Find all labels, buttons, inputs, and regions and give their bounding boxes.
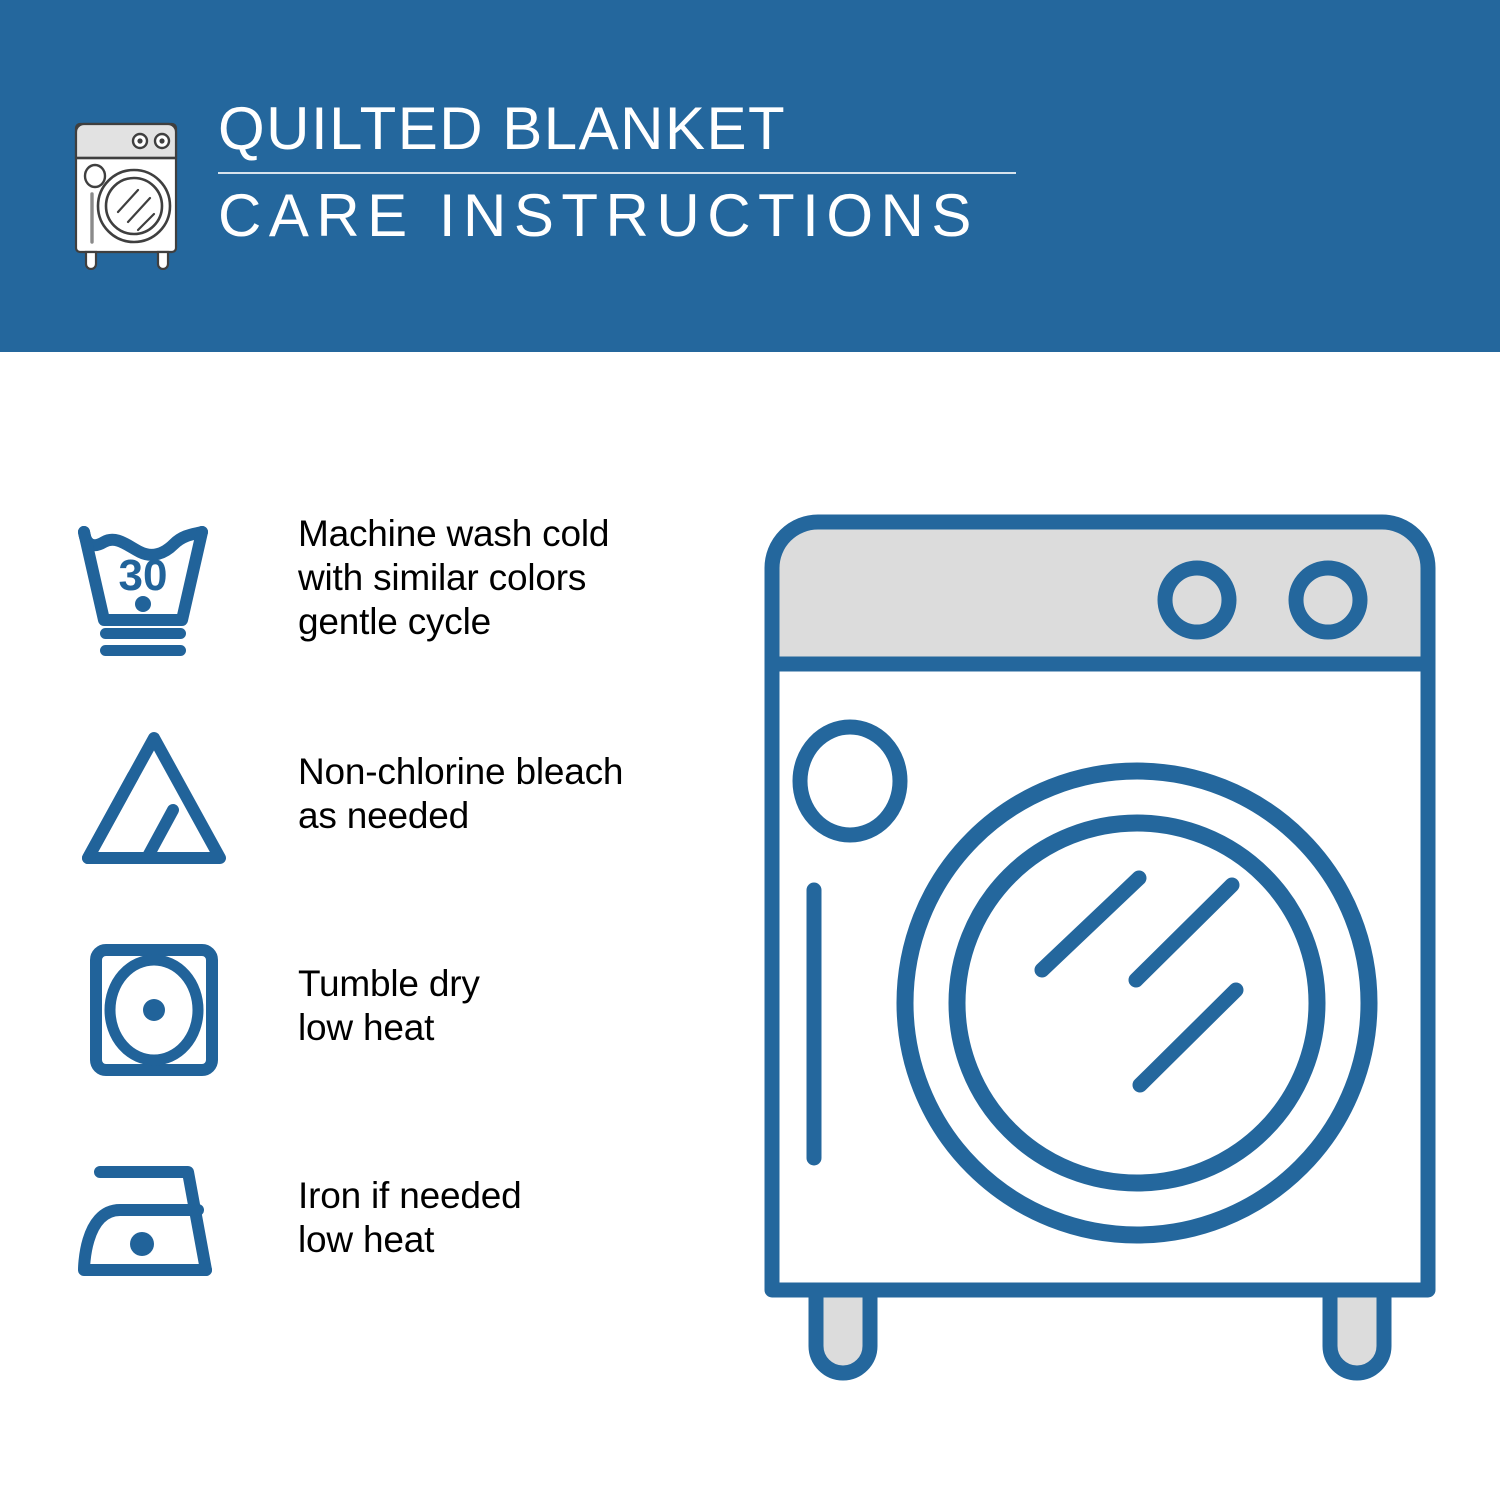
care-row-machine-wash: 30 Machine wash cold with similar colors… bbox=[70, 512, 710, 662]
care-text-line: Tumble dry bbox=[298, 962, 710, 1006]
control-panel bbox=[772, 522, 1428, 664]
care-row-text: Iron if needed low heat bbox=[298, 1148, 710, 1262]
care-text-line: low heat bbox=[298, 1006, 710, 1050]
front-load-washing-machine-illustration bbox=[750, 500, 1450, 1410]
care-instruction-list: 30 Machine wash cold with similar colors… bbox=[70, 512, 710, 1298]
machine-body bbox=[772, 664, 1428, 1290]
care-text-line: gentle cycle bbox=[298, 600, 710, 644]
leg-right bbox=[1330, 1290, 1384, 1373]
care-row-bleach: Non-chlorine bleach as needed bbox=[70, 724, 710, 874]
leg-left bbox=[816, 1290, 870, 1373]
care-row-text: Machine wash cold with similar colors ge… bbox=[298, 512, 710, 644]
care-text-line: with similar colors bbox=[298, 556, 710, 600]
washing-machine-icon bbox=[62, 102, 190, 270]
care-text-line: low heat bbox=[298, 1218, 710, 1262]
care-text-line: Iron if needed bbox=[298, 1174, 710, 1218]
care-text-line: Non-chlorine bleach bbox=[298, 750, 710, 794]
care-row-text: Tumble dry low heat bbox=[298, 936, 710, 1050]
care-row-text: Non-chlorine bleach as needed bbox=[298, 724, 710, 838]
page-title: QUILTED BLANKET bbox=[218, 98, 1062, 160]
svg-text:30: 30 bbox=[119, 551, 168, 600]
header-title-block: QUILTED BLANKET CARE INSTRUCTIONS bbox=[218, 96, 1062, 248]
care-row-iron: Iron if needed low heat bbox=[70, 1148, 710, 1298]
main-content: 30 Machine wash cold with similar colors… bbox=[0, 352, 1500, 1500]
title-divider bbox=[218, 172, 1016, 174]
care-text-line: as needed bbox=[298, 794, 710, 838]
tumble-dry-low-heat-icon bbox=[70, 936, 238, 1084]
non-chlorine-bleach-triangle-icon bbox=[70, 724, 238, 872]
page-subtitle: CARE INSTRUCTIONS bbox=[218, 184, 1062, 248]
header-content: QUILTED BLANKET CARE INSTRUCTIONS bbox=[62, 96, 1062, 276]
iron-low-heat-icon bbox=[70, 1148, 238, 1296]
care-text-line: Machine wash cold bbox=[298, 512, 710, 556]
header-band: QUILTED BLANKET CARE INSTRUCTIONS bbox=[0, 0, 1500, 352]
care-row-tumble-dry: Tumble dry low heat bbox=[70, 936, 710, 1086]
wash-tub-30-gentle-icon: 30 bbox=[70, 512, 238, 660]
